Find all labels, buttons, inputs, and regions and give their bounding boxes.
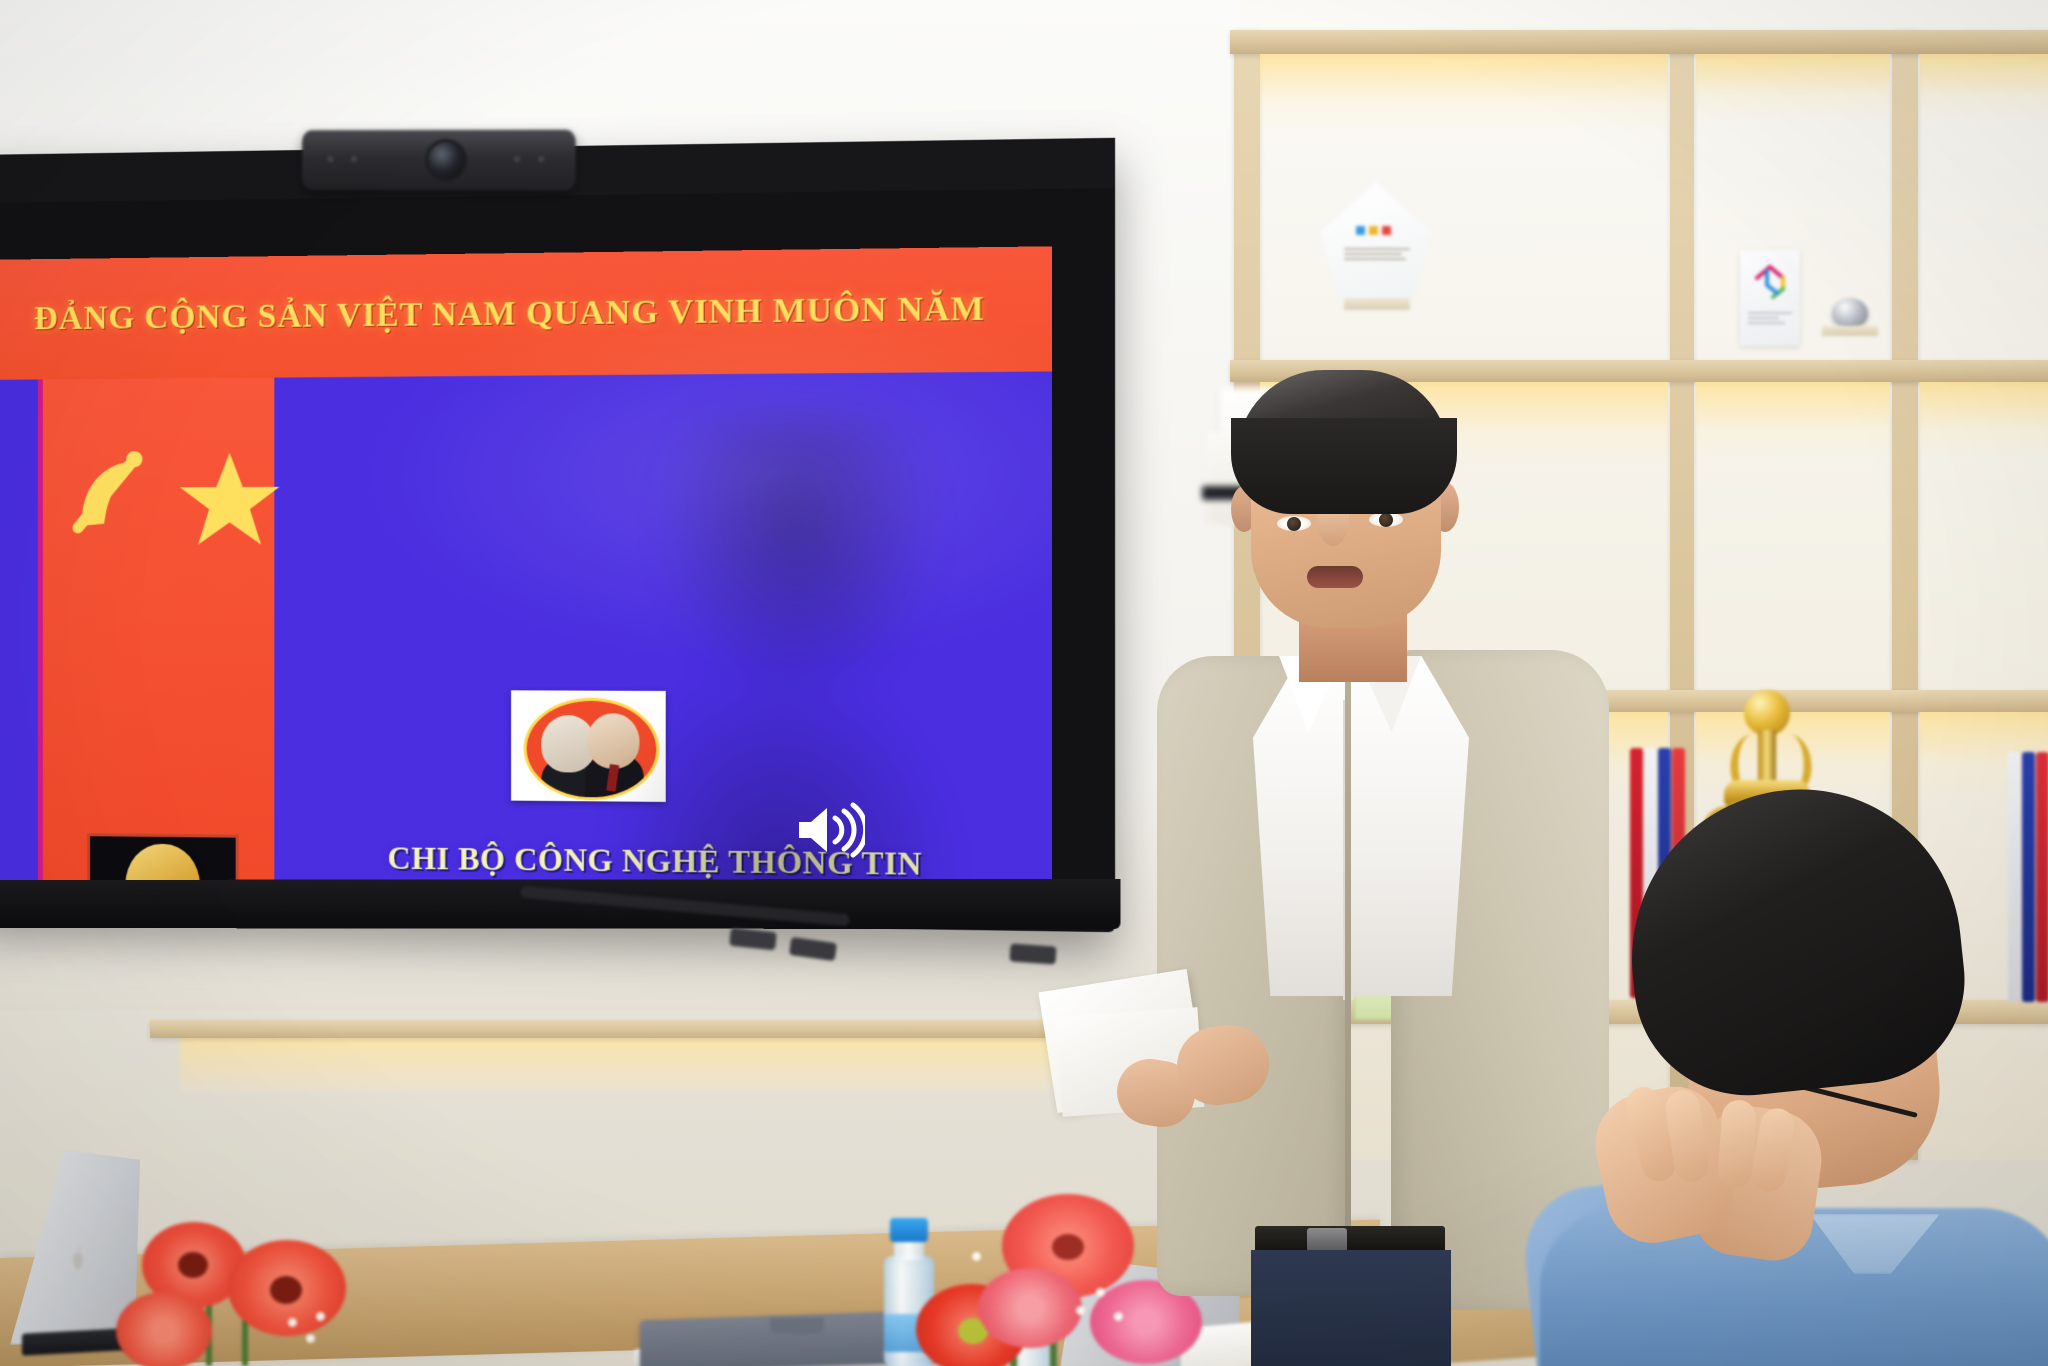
conference-webcam (302, 130, 576, 191)
slide-title-line1: CHI BỘ CÔNG NGHỆ THÔNG TIN (274, 839, 1041, 884)
glass-award-plaque (1320, 182, 1432, 302)
presentation-screen: ĐẢNG CỘNG SẢN VIỆT NAM QUANG VINH MUÔN N… (0, 246, 1052, 913)
screen-person-shadow (605, 414, 955, 913)
gerbera-bouquet-left (110, 1200, 370, 1366)
meeting-room-photo: ngineering an (0, 0, 2048, 1366)
speaker-trousers (1251, 1250, 1451, 1366)
speaker-shirt (1253, 656, 1469, 996)
attendee-hair (1615, 774, 1975, 1107)
gerbera-bouquet-center (860, 1188, 1180, 1366)
house-logo-icon (1753, 263, 1787, 301)
presentation-slide: ĐẢNG CỘNG SẢN VIỆT NAM QUANG VINH MUÔN N… (0, 246, 1052, 913)
seated-attendee (1580, 790, 2048, 1366)
marx-lenin-portrait-icon (511, 690, 666, 802)
silver-globe-ornament (1832, 298, 1868, 328)
hammer-and-sickle-icon (64, 439, 151, 540)
logo-card-plaque (1740, 250, 1800, 346)
webcam-lens-icon (428, 142, 464, 178)
cable-clip-3 (1009, 943, 1056, 964)
speaker-volume-icon (795, 802, 865, 858)
television-lower-bezel (0, 879, 1121, 929)
notebook-closure-tab (770, 1318, 824, 1334)
apple-logo-icon (66, 1246, 88, 1272)
slide-banner-text: ĐẢNG CỘNG SẢN VIỆT NAM QUANG VINH MUÔN N… (0, 246, 1052, 380)
